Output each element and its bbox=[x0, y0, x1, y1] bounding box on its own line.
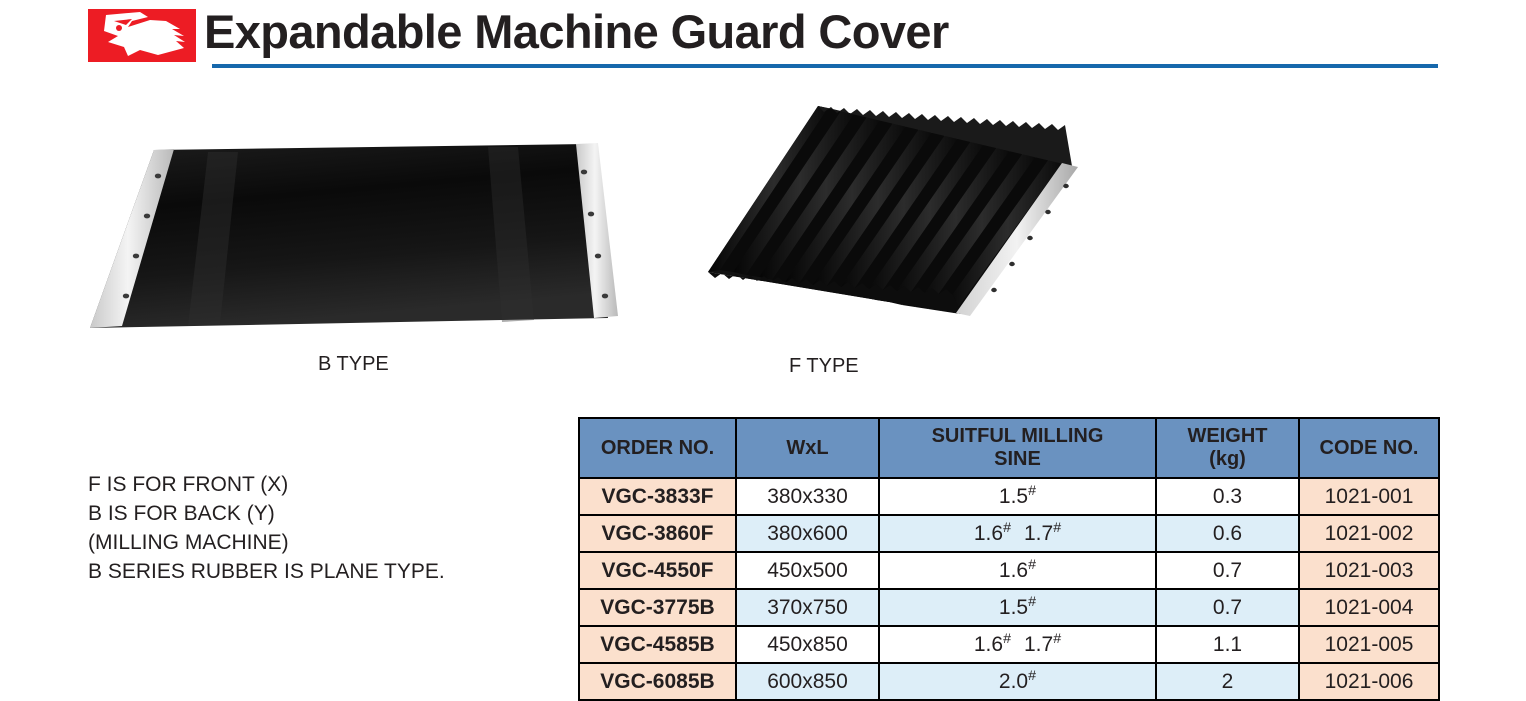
title-underline-rule bbox=[212, 64, 1438, 68]
cell-weight: 0.6 bbox=[1156, 515, 1299, 552]
cell-order-no: VGC-4550F bbox=[579, 552, 736, 589]
cell-sine: 1.5# bbox=[879, 478, 1156, 515]
note-line: (MILLING MACHINE) bbox=[88, 528, 445, 557]
note-line: B IS FOR BACK (Y) bbox=[88, 499, 445, 528]
cell-wxl: 380x600 bbox=[736, 515, 879, 552]
caption-f-type: F TYPE bbox=[789, 355, 859, 378]
table-row: VGC-3860F380x6001.6#1.7#0.61021-002 bbox=[579, 515, 1439, 552]
cell-weight: 0.7 bbox=[1156, 589, 1299, 626]
col-header-weight-line1: WEIGHT bbox=[1188, 425, 1268, 447]
page-title: Expandable Machine Guard Cover bbox=[204, 3, 949, 61]
col-header-weight: WEIGHT (kg) bbox=[1156, 418, 1299, 478]
cell-sine: 1.5# bbox=[879, 589, 1156, 626]
caption-b-type: B TYPE bbox=[318, 353, 389, 376]
col-header-weight-line2: (kg) bbox=[1209, 448, 1246, 470]
cell-order-no: VGC-3775B bbox=[579, 589, 736, 626]
cell-sine: 1.6#1.7# bbox=[879, 515, 1156, 552]
table-row: VGC-3775B370x7501.5#0.71021-004 bbox=[579, 589, 1439, 626]
specification-table: ORDER NO. WxL SUITFUL MILLING SINE WEIGH… bbox=[578, 417, 1440, 701]
cell-wxl: 450x850 bbox=[736, 626, 879, 663]
cell-order-no: VGC-3833F bbox=[579, 478, 736, 515]
table-row: VGC-3833F380x3301.5#0.31021-001 bbox=[579, 478, 1439, 515]
cell-code-no: 1021-003 bbox=[1299, 552, 1439, 589]
cell-weight: 1.1 bbox=[1156, 626, 1299, 663]
table-row: VGC-4550F450x5001.6#0.71021-003 bbox=[579, 552, 1439, 589]
table-row: VGC-6085B600x8502.0#21021-006 bbox=[579, 663, 1439, 700]
cell-sine: 1.6#1.7# bbox=[879, 626, 1156, 663]
cell-code-no: 1021-004 bbox=[1299, 589, 1439, 626]
col-header-sine-line1: SUITFUL MILLING bbox=[932, 425, 1104, 447]
cell-wxl: 380x330 bbox=[736, 478, 879, 515]
cell-weight: 2 bbox=[1156, 663, 1299, 700]
note-line: F IS FOR FRONT (X) bbox=[88, 470, 445, 499]
cell-sine: 2.0# bbox=[879, 663, 1156, 700]
cell-wxl: 600x850 bbox=[736, 663, 879, 700]
cell-sine: 1.6# bbox=[879, 552, 1156, 589]
product-image-b-type bbox=[88, 128, 628, 348]
col-header-order-no: ORDER NO. bbox=[579, 418, 736, 478]
cell-weight: 0.3 bbox=[1156, 478, 1299, 515]
cell-order-no: VGC-4585B bbox=[579, 626, 736, 663]
product-image-f-type bbox=[700, 100, 1100, 335]
table-header-row: ORDER NO. WxL SUITFUL MILLING SINE WEIGH… bbox=[579, 418, 1439, 478]
cell-wxl: 450x500 bbox=[736, 552, 879, 589]
note-line: B SERIES RUBBER IS PLANE TYPE. bbox=[88, 557, 445, 586]
col-header-code-no: CODE NO. bbox=[1299, 418, 1439, 478]
table-row: VGC-4585B450x8501.6#1.7#1.11021-005 bbox=[579, 626, 1439, 663]
cell-order-no: VGC-6085B bbox=[579, 663, 736, 700]
notes-block: F IS FOR FRONT (X) B IS FOR BACK (Y) (MI… bbox=[88, 470, 445, 586]
page-header: Expandable Machine Guard Cover bbox=[0, 0, 1526, 78]
cell-code-no: 1021-005 bbox=[1299, 626, 1439, 663]
col-header-sine-line2: SINE bbox=[994, 448, 1041, 470]
cell-code-no: 1021-002 bbox=[1299, 515, 1439, 552]
cell-code-no: 1021-006 bbox=[1299, 663, 1439, 700]
cell-wxl: 370x750 bbox=[736, 589, 879, 626]
cell-code-no: 1021-001 bbox=[1299, 478, 1439, 515]
col-header-wxl: WxL bbox=[736, 418, 879, 478]
eagle-head-logo-icon bbox=[88, 9, 196, 62]
cell-weight: 0.7 bbox=[1156, 552, 1299, 589]
col-header-suitful-milling-sine: SUITFUL MILLING SINE bbox=[879, 418, 1156, 478]
cell-order-no: VGC-3860F bbox=[579, 515, 736, 552]
